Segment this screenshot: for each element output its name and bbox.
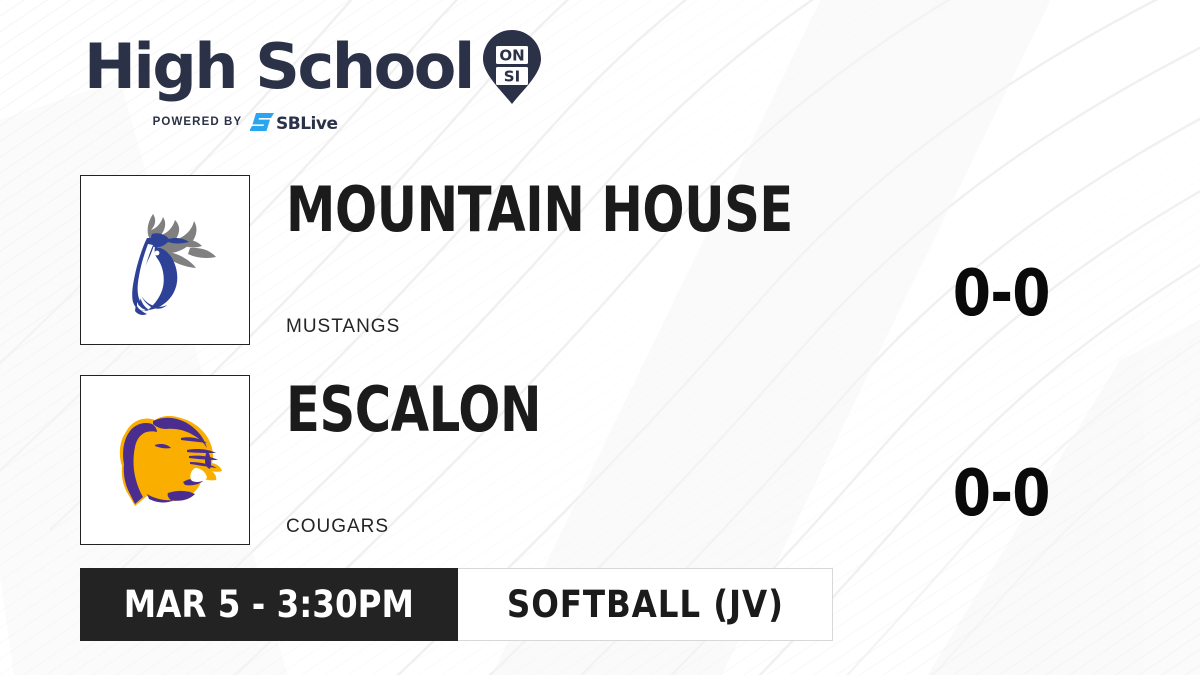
matchup-card: High School ON SI POWERED BY	[0, 0, 1200, 675]
team-info: MOUNTAIN HOUSE MUSTANGS	[286, 175, 920, 338]
teams-list: MOUNTAIN HOUSE MUSTANGS	[80, 175, 920, 575]
pin-text-on: ON	[499, 47, 524, 65]
powered-by-label: POWERED BY	[153, 116, 243, 128]
mustang-head-logo-icon	[95, 190, 235, 330]
team-row: MOUNTAIN HOUSE MUSTANGS	[80, 175, 920, 375]
team-score: 0-0	[953, 262, 1050, 326]
team-name: ESCALON	[286, 379, 541, 441]
team-score: 0-0	[953, 462, 1050, 526]
team-mascot: COUGARS	[286, 516, 605, 538]
pin-text-si: SI	[504, 68, 520, 86]
game-info-bar: MAR 5 - 3:30PM SOFTBALL (JV)	[80, 568, 833, 641]
team-info: ESCALON COUGARS	[286, 375, 605, 538]
game-sport: SOFTBALL (JV)	[458, 568, 834, 641]
team-name: MOUNTAIN HOUSE	[286, 179, 793, 241]
game-datetime: MAR 5 - 3:30PM	[80, 568, 458, 641]
sblive-wordmark: SBLive	[276, 114, 337, 133]
sblive-logo-icon: SBLive	[250, 111, 372, 133]
team-row: ESCALON COUGARS	[80, 375, 920, 575]
game-datetime-text: MAR 5 - 3:30PM	[124, 583, 414, 626]
brand-wordmark: High School	[84, 37, 473, 97]
game-sport-text: SOFTBALL (JV)	[507, 583, 784, 626]
team-logo-box	[80, 375, 250, 545]
on-si-pin-icon: ON SI	[483, 30, 541, 104]
team-logo-box	[80, 175, 250, 345]
team-mascot: MUSTANGS	[286, 316, 920, 338]
cougar-head-logo-icon	[95, 390, 235, 530]
brand-lockup: High School ON SI POWERED BY	[84, 30, 541, 133]
powered-by-row: POWERED BY SBLive	[84, 111, 541, 133]
